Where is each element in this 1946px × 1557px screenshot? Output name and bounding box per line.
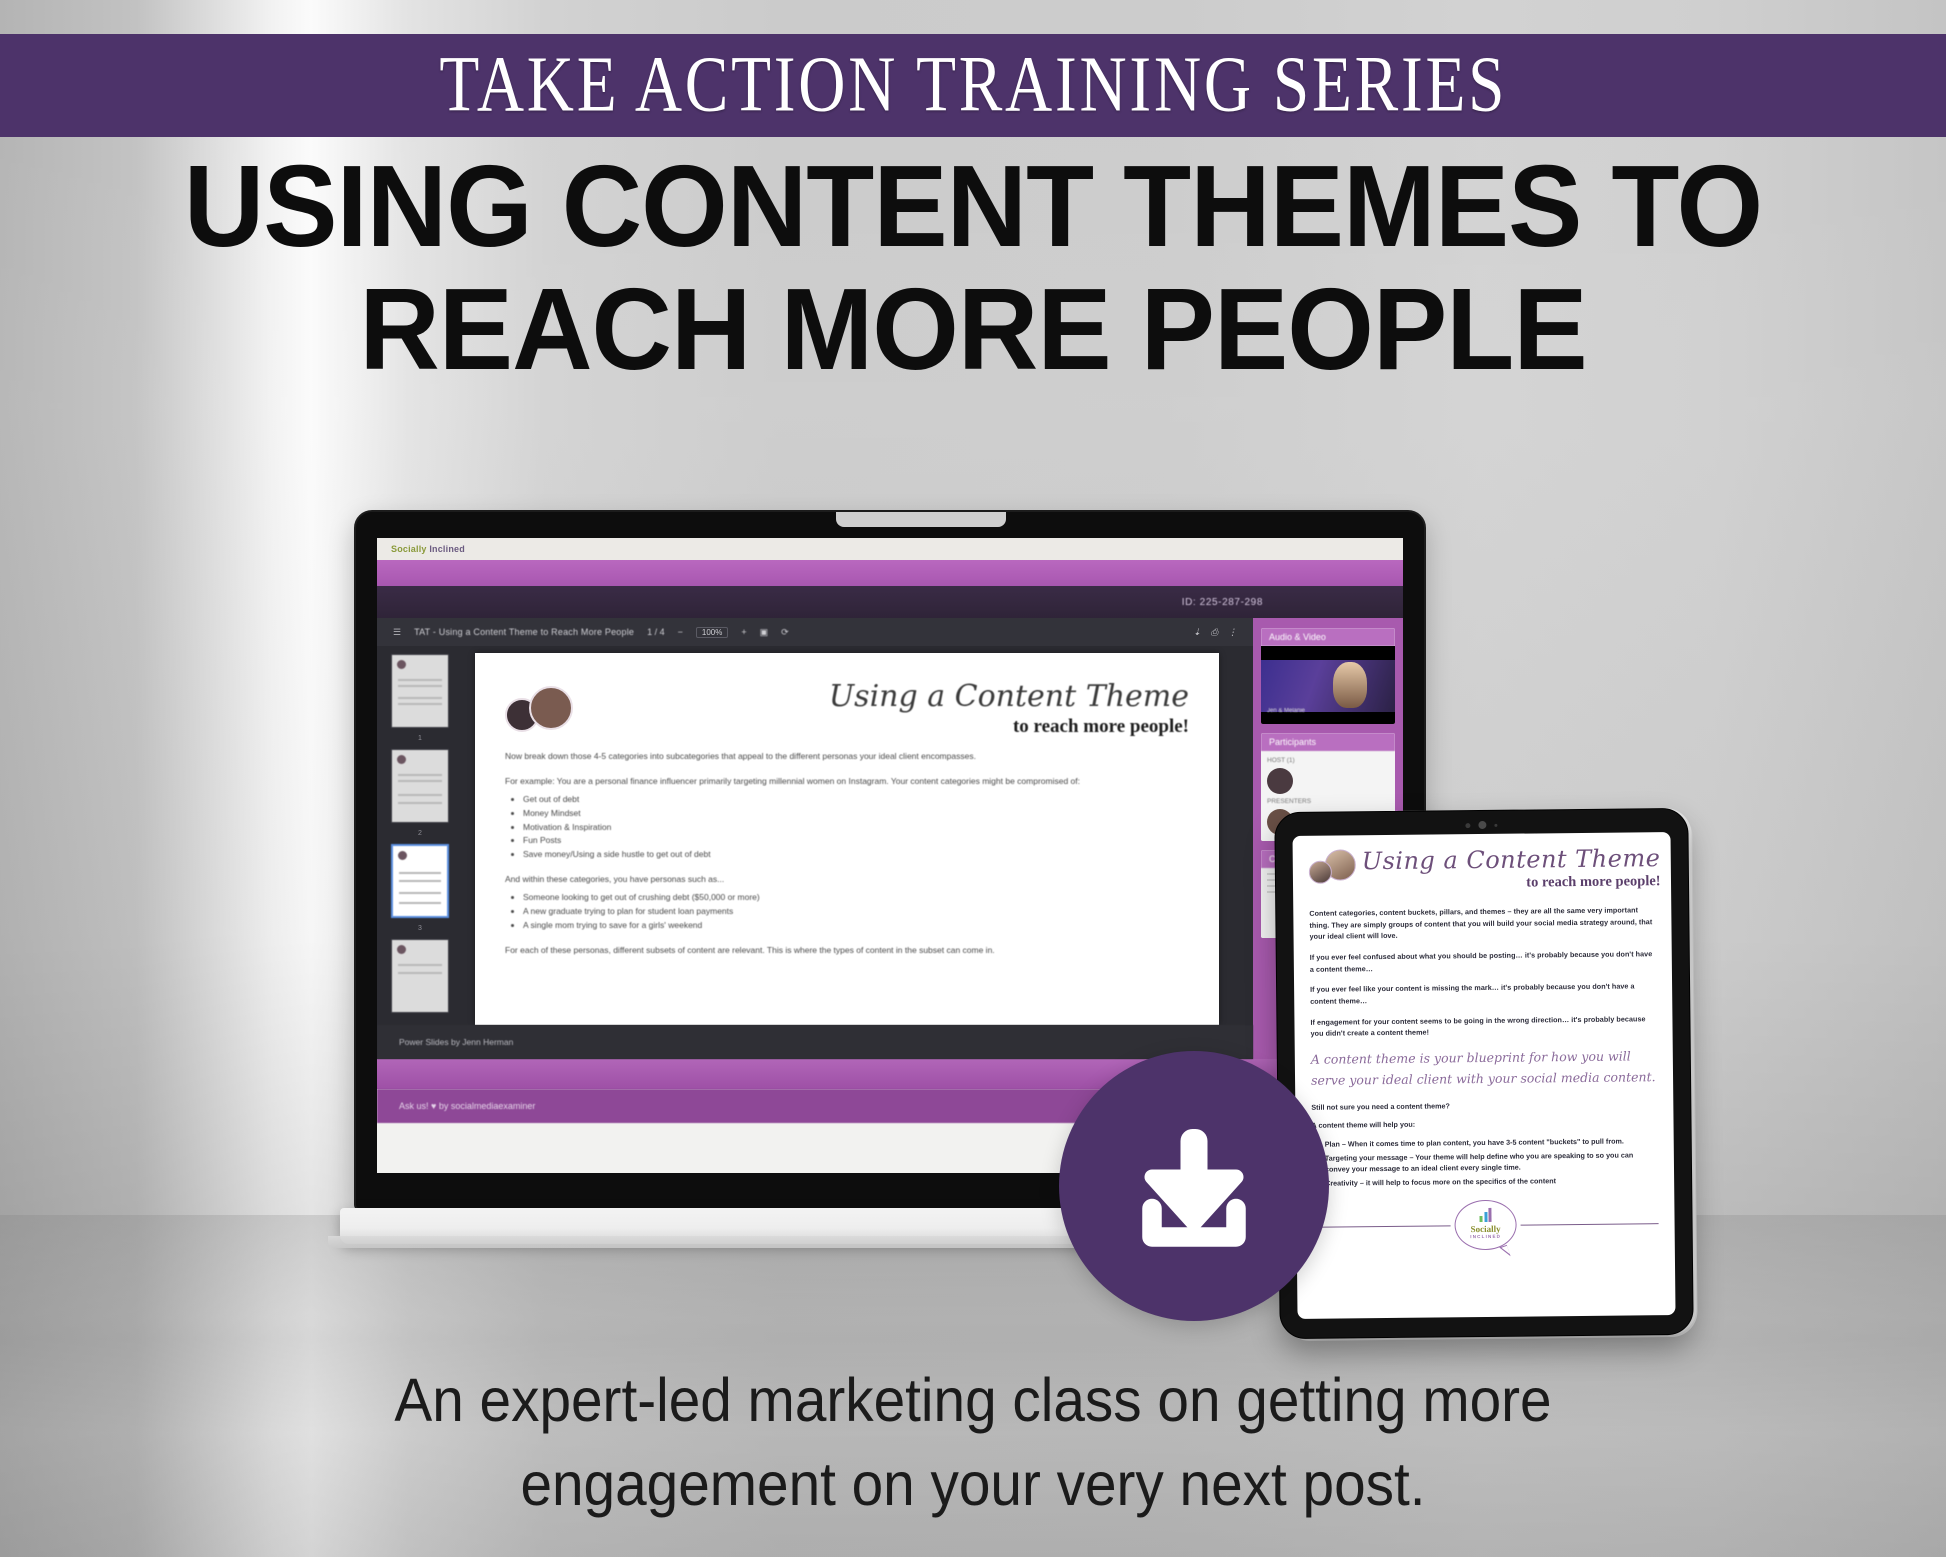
speech-bubble-tail-icon: [1499, 1245, 1510, 1259]
slide-bullet-list-2: Someone looking to get out of crushing d…: [523, 891, 1189, 932]
tablet-screen: Using a Content Theme to reach more peop…: [1293, 832, 1676, 1319]
thumbnail-item[interactable]: [391, 749, 449, 823]
list-item: A single mom trying to save for a girls'…: [523, 919, 1189, 933]
page-title-line-2: REACH MORE PEOPLE: [39, 268, 1907, 391]
zoom-out-button[interactable]: −: [678, 627, 683, 637]
browser-tab-bar: Socially Inclined: [377, 538, 1403, 560]
handout-header: Using a Content Theme to reach more peop…: [1309, 846, 1655, 894]
presenter-face: [1333, 662, 1367, 708]
download-icon: [1119, 1111, 1269, 1261]
subtitle-line-2: engagement on your very next post.: [68, 1442, 1878, 1526]
list-item: A new graduate trying to plan for studen…: [523, 905, 1189, 919]
slide-paragraph: Now break down those 4-5 categories into…: [505, 750, 1189, 763]
tablet-camera-array: [1465, 821, 1497, 829]
download-icon[interactable]: ⇣: [1193, 627, 1201, 638]
thumbnail-number: 3: [391, 925, 449, 932]
list-item: Save money/Using a side hustle to get ou…: [523, 848, 1189, 862]
avatar: [1309, 861, 1332, 884]
slide-header: Using a Content Theme to reach more peop…: [505, 679, 1189, 738]
list-item: Plan – When it comes time to plan conten…: [1325, 1135, 1658, 1150]
handout-paragraph: If engagement for your content seems to …: [1310, 1013, 1656, 1040]
document-main: 1 2 3: [377, 646, 1253, 1025]
series-banner-label: TAKE ACTION TRAINING SERIES: [439, 40, 1507, 131]
divider: [1521, 1223, 1659, 1225]
laptop-notch: [836, 512, 1006, 527]
subtitle-caption: An expert-led marketing class on getting…: [68, 1358, 1878, 1526]
author-avatars: [1309, 849, 1356, 880]
handout-script-callout: A content theme is your blueprint for ho…: [1311, 1046, 1657, 1091]
app-body: ☰ TAT - Using a Content Theme to Reach M…: [377, 618, 1403, 1059]
video-stream: [1261, 660, 1395, 712]
slide-paragraph: And within these categories, you have pe…: [505, 873, 1189, 886]
presenter-name: Jen & Melanie: [1267, 708, 1305, 714]
list-item: Targeting your message – Your theme will…: [1325, 1149, 1658, 1176]
document-toolbar: ☰ TAT - Using a Content Theme to Reach M…: [377, 618, 1253, 646]
handout-paragraph: Content categories, content buckets, pil…: [1309, 904, 1655, 943]
host-label: HOST (1): [1267, 757, 1389, 764]
thumbnail-item[interactable]: [391, 654, 449, 728]
tablet-mockup: Using a Content Theme to reach more peop…: [1274, 808, 1693, 1339]
handout-body: Content categories, content buckets, pil…: [1309, 904, 1659, 1252]
app-header-bar: [377, 560, 1403, 586]
handout-question: Still not sure you need a content theme?: [1311, 1099, 1657, 1112]
list-item: Motivation & Inspiration: [523, 821, 1189, 835]
rotate-icon[interactable]: ⟳: [781, 627, 789, 638]
audio-video-label: Audio & Video: [1261, 628, 1395, 646]
audio-video-panel: Audio & Video Jen & Melanie: [1261, 628, 1395, 724]
thumbnail-rail: 1 2 3: [377, 646, 469, 1025]
handout-subtitle: to reach more people!: [1362, 873, 1661, 893]
meeting-id: ID: 225-287-298: [1182, 597, 1263, 608]
handout-paragraph: If you ever feel confused about what you…: [1310, 948, 1656, 975]
thumbnail-avatar-icon: [398, 851, 407, 860]
sensor-dot-icon: [1494, 823, 1497, 826]
more-vertical-icon[interactable]: ⋮: [1228, 627, 1237, 638]
participant-row[interactable]: [1267, 766, 1389, 796]
camera-lens-icon: [1478, 821, 1486, 829]
video-tile[interactable]: Jen & Melanie: [1261, 646, 1395, 724]
thumbnail-item[interactable]: [391, 939, 449, 1013]
handout-bullet-list: Plan – When it comes time to plan conten…: [1325, 1135, 1659, 1189]
print-icon[interactable]: ⎙: [1211, 627, 1218, 638]
document-footer: Power Slides by Jenn Herman: [377, 1025, 1253, 1059]
page-indicator: 1 / 4: [647, 627, 665, 637]
slide-paragraph: For each of these personas, different su…: [505, 944, 1189, 957]
thumbnail-number: 2: [391, 830, 449, 837]
thumbnail-item-selected[interactable]: [391, 844, 449, 918]
bar-chart-icon: [1479, 1208, 1491, 1222]
browser-tab-brand: Socially: [391, 544, 427, 554]
avatar: [529, 686, 573, 730]
download-badge[interactable]: [1059, 1051, 1329, 1321]
slide-subtitle: to reach more people!: [829, 716, 1189, 738]
page-title: USING CONTENT THEMES TO REACH MORE PEOPL…: [39, 145, 1907, 391]
thumbnail-avatar-icon: [397, 660, 406, 669]
zoom-level[interactable]: 100%: [696, 627, 728, 638]
list-item: Someone looking to get out of crushing d…: [523, 891, 1189, 905]
handout-paragraph: If you ever feel like your content is mi…: [1310, 980, 1656, 1007]
fit-page-icon[interactable]: ▣: [760, 627, 769, 638]
logo-tagline: INCLINED: [1455, 1234, 1517, 1240]
toolbar-right-group: ⇣ ⎙ ⋮: [1193, 627, 1237, 638]
socially-inclined-logo: Socially INCLINED: [1454, 1200, 1517, 1251]
list-item: Creativity – it will help to focus more …: [1325, 1174, 1658, 1189]
document-viewer: ☰ TAT - Using a Content Theme to Reach M…: [377, 618, 1253, 1059]
list-item: Money Mindset: [523, 807, 1189, 821]
slide-bullet-list: Get out of debt Money Mindset Motivation…: [523, 793, 1189, 861]
slide-script-title: Using a Content Theme: [829, 679, 1189, 714]
page-title-line-1: USING CONTENT THEMES TO: [39, 145, 1907, 268]
list-item: Fun Posts: [523, 834, 1189, 848]
divider: [1313, 1225, 1451, 1227]
document-page: Using a Content Theme to reach more peop…: [475, 653, 1219, 1025]
document-title: TAT - Using a Content Theme to Reach Mor…: [414, 627, 634, 637]
handout-footer: Socially INCLINED: [1312, 1198, 1659, 1252]
thumbnail-number: 1: [391, 735, 449, 742]
avatar: [1267, 768, 1293, 794]
hamburger-icon[interactable]: ☰: [393, 627, 401, 638]
browser-tab-rest: Inclined: [427, 544, 465, 554]
series-banner: TAKE ACTION TRAINING SERIES: [0, 34, 1946, 137]
slide-paragraph: For example: You are a personal finance …: [505, 775, 1189, 788]
list-item: Get out of debt: [523, 793, 1189, 807]
presenter-label: PRESENTERS: [1267, 798, 1389, 805]
meeting-header: ID: 225-287-298: [377, 586, 1403, 618]
thumbnail-avatar-icon: [397, 945, 406, 954]
zoom-in-button[interactable]: +: [741, 627, 746, 637]
handout-script-title: Using a Content Theme: [1362, 846, 1661, 873]
logo-name: Socially: [1455, 1224, 1517, 1235]
camera-dot-icon: [1465, 823, 1470, 828]
subtitle-line-1: An expert-led marketing class on getting…: [68, 1358, 1878, 1442]
presenter-avatars: [505, 686, 573, 732]
browser-tab-title: Socially Inclined: [391, 544, 465, 554]
participants-label: Participants: [1261, 733, 1395, 751]
handout-lead-in: A content theme will help you:: [1311, 1117, 1657, 1130]
thumbnail-avatar-icon: [397, 755, 406, 764]
